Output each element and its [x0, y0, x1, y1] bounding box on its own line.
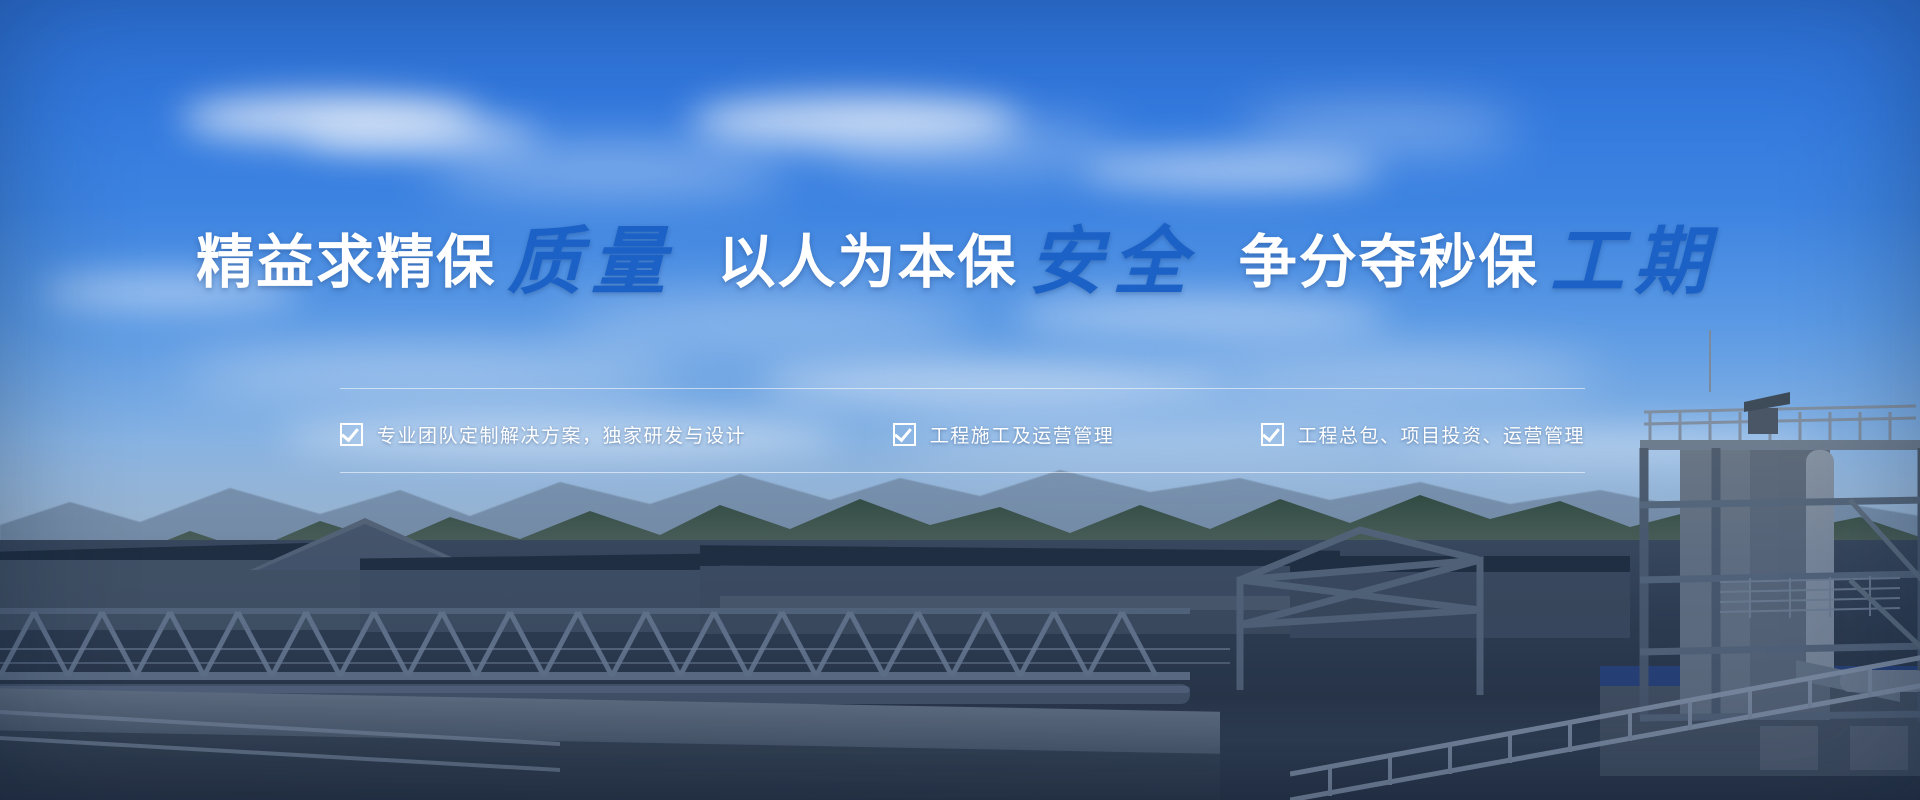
feature-item-3[interactable]: 工程总包、项目投资、运营管理 — [1261, 421, 1585, 448]
feature-item-1[interactable]: 专业团队定制解决方案，独家研发与设计 — [340, 421, 746, 448]
divider-top — [340, 388, 1585, 389]
checkbox-checked-icon — [340, 423, 363, 446]
feature-label-2: 工程施工及运营管理 — [930, 421, 1115, 448]
checkbox-checked-icon — [1261, 423, 1284, 446]
feature-list: 专业团队定制解决方案，独家研发与设计 工程施工及运营管理 工程总包、项目投资、运… — [340, 398, 1585, 470]
feature-label-1: 专业团队定制解决方案，独家研发与设计 — [377, 421, 746, 448]
headline-segment-script-1: 质量 — [501, 219, 681, 305]
headline-segment-script-3: 工期 — [1544, 219, 1724, 305]
hero-banner: 精益求精保 质量 以人为本保 安全 争分夺秒保 工期 专业团队定制解决方案，独家… — [0, 0, 1920, 800]
headline: 精益求精保 质量 以人为本保 安全 争分夺秒保 工期 — [0, 225, 1920, 299]
divider-bottom — [340, 472, 1585, 473]
headline-segment-plain-2: 以人为本保 — [717, 228, 1017, 296]
headline-segment-script-2: 安全 — [1023, 219, 1203, 305]
feature-item-2[interactable]: 工程施工及运营管理 — [893, 421, 1115, 448]
feature-label-3: 工程总包、项目投资、运营管理 — [1298, 421, 1585, 448]
checkbox-checked-icon — [893, 423, 916, 446]
headline-segment-plain-1: 精益求精保 — [196, 228, 496, 296]
banner-text-overlay: 精益求精保 质量 以人为本保 安全 争分夺秒保 工期 专业团队定制解决方案，独家… — [0, 0, 1920, 800]
headline-segment-plain-3: 争分夺秒保 — [1239, 228, 1539, 296]
